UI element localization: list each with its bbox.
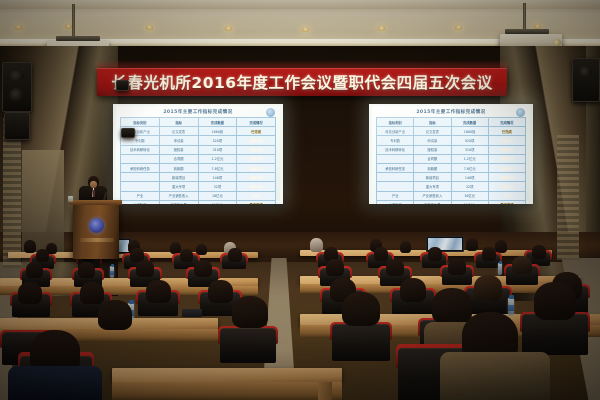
slide-table-row: 人才队伍正高级人员1170人基本完成 — [121, 200, 276, 204]
attendee — [374, 247, 388, 261]
slide-table-row: 重大专项32项超额完成 — [377, 182, 526, 191]
presenter-face — [90, 181, 97, 188]
downlight-icon — [302, 27, 309, 32]
attendee — [400, 278, 426, 302]
slide-status-cell: 超额完成 — [237, 145, 276, 154]
slide-header-cell: 完成情况 — [237, 118, 276, 127]
bottle-cap — [111, 264, 114, 267]
slide-table-row: 专利数申请量520项超额完成 — [121, 136, 276, 145]
chair — [220, 328, 276, 363]
attendee — [26, 262, 43, 278]
slide-table-row: 产业产业销售收入18亿元完成 — [121, 191, 276, 200]
slide-data-cell: 1170人 — [451, 200, 488, 204]
slide-status-cell: 超额完成 — [488, 136, 525, 145]
slide-table-header-row: 指标类别指标完成数据完成情况 — [377, 118, 526, 127]
downlight-icon — [15, 25, 22, 30]
right-projection-screen: 2015年主要工作指标完成情况 指标类别指标完成数据完成情况科技创新产出论文发表… — [369, 104, 533, 204]
banner-text: 长春光机所2016年度工作会议暨职代会四届五次会议 — [111, 71, 492, 93]
speaker-cone-icon — [578, 66, 592, 78]
slide-data-cell: 正高级人员 — [159, 200, 198, 204]
bottle-cap — [509, 295, 514, 299]
institute-logo-icon — [266, 108, 275, 117]
slide-data-cell: 310项 — [451, 145, 488, 154]
slide-status-cell: 已完成 — [488, 127, 525, 136]
slide-table-row: 专利数申请量520项超额完成 — [377, 136, 526, 145]
desk-front — [112, 382, 342, 400]
left-projection-screen: 2015年主要工作指标完成情况 指标类别指标完成数据完成情况科技创新产出论文发表… — [113, 104, 283, 204]
slide-data-cell: 新增项目 — [414, 173, 451, 182]
attendee — [80, 282, 104, 304]
bottle-cap — [129, 300, 134, 304]
slide-title: 2015年主要工作指标完成情况 — [376, 109, 526, 115]
slide-table-body-left: 指标类别指标完成数据完成情况科技创新产出论文发表1680篇已完成专利数申请量52… — [121, 118, 276, 205]
slide-table-row: 技术转移转化授权量310项超额完成 — [377, 145, 526, 154]
slide-data-cell — [121, 154, 160, 163]
slide-data-cell — [377, 182, 414, 191]
attendee — [466, 238, 478, 251]
slide-data-cell: 承担科研任务 — [377, 163, 414, 172]
attendee — [448, 258, 466, 275]
slide-header-cell: 指标类别 — [121, 118, 160, 127]
desk — [112, 368, 342, 382]
slide-data-cell: 产业销售收入 — [414, 191, 451, 200]
attendee — [400, 241, 411, 253]
slide-table-row: 新增项目146项超额完成 — [121, 173, 276, 182]
slide-data-cell: 技术转移转化 — [377, 145, 414, 154]
podium-top — [70, 200, 122, 205]
slide-status-cell: 超额完成 — [237, 154, 276, 163]
slide-status-cell: 完成 — [237, 191, 276, 200]
attendee — [474, 275, 502, 301]
slide-status-cell: 超额完成 — [237, 163, 276, 172]
downlight-icon — [455, 25, 462, 30]
slide-table-body-right: 指标类别指标完成数据完成情况科技创新产出论文发表1680篇已完成专利数申请量52… — [377, 118, 526, 205]
slide-table: 指标类别指标完成数据完成情况科技创新产出论文发表1680篇已完成专利数申请量52… — [376, 117, 526, 204]
slide-header-cell: 指标类别 — [377, 118, 414, 127]
slide-data-cell: 授权量 — [159, 145, 198, 154]
slide-data-cell: 重大专项 — [159, 182, 198, 191]
slide-data-cell: 1.2亿元 — [451, 154, 488, 163]
slide-data-cell: 产业 — [377, 191, 414, 200]
slide-data-cell: 论文发表 — [159, 127, 198, 136]
slide-status-cell: 基本完成 — [488, 200, 525, 204]
event-banner: 长春光机所2016年度工作会议暨职代会四届五次会议 — [97, 68, 507, 96]
slide-table-row: 科技创新产出论文发表1680篇已完成 — [377, 127, 526, 136]
slide-title: 2015年主要工作指标完成情况 — [120, 109, 276, 115]
downlight-icon — [225, 26, 232, 31]
slide-data-cell: 承担科研任务 — [121, 163, 160, 172]
slide-data-cell: 授权量 — [414, 145, 451, 154]
attendee — [432, 288, 472, 324]
attendee — [428, 247, 442, 261]
slide-data-cell: 到款额 — [414, 163, 451, 172]
slide-header-cell: 指标 — [159, 118, 198, 127]
attendee — [208, 280, 233, 303]
attendee — [146, 280, 171, 303]
slide-status-cell: 超额完成 — [488, 163, 525, 172]
slide-status-cell: 超额完成 — [237, 173, 276, 182]
projector-lens-icon — [553, 39, 561, 46]
slide-data-cell: 申请量 — [414, 136, 451, 145]
downlight-icon — [65, 24, 72, 29]
downlight-icon — [378, 26, 385, 31]
attendee — [532, 245, 546, 259]
attendee — [194, 260, 212, 277]
slide-header-cell: 完成情况 — [488, 118, 525, 127]
attendee — [228, 248, 242, 262]
attendee — [310, 238, 323, 252]
bottle-label — [508, 305, 514, 311]
slide-data-cell: 1680篇 — [451, 127, 488, 136]
slide-table-row: 承担科研任务到款额7.8亿元超额完成 — [377, 163, 526, 172]
slide-data-cell: 人才队伍 — [121, 200, 160, 204]
desk-leg — [318, 382, 332, 400]
right-slide-content: 2015年主要工作指标完成情况 指标类别指标完成数据完成情况科技创新产出论文发表… — [372, 106, 530, 201]
slide-data-cell: 合同额 — [159, 154, 198, 163]
slide-data-cell: 32项 — [198, 182, 237, 191]
slide-table-row: 技术转移转化授权量310项超额完成 — [121, 145, 276, 154]
slide-table-header-row: 指标类别指标完成数据完成情况 — [121, 118, 276, 127]
conference-hall-photo: 长春光机所2016年度工作会议暨职代会四届五次会议 2015年主要工作指标完成情… — [0, 0, 600, 400]
slide-data-cell: 32项 — [451, 182, 488, 191]
attendee — [386, 259, 404, 276]
slide-data-cell: 520项 — [451, 136, 488, 145]
slide-data-cell: 论文发表 — [414, 127, 451, 136]
bottle-cap — [499, 261, 502, 264]
right-wall-slats — [557, 135, 579, 260]
wall-speaker — [572, 58, 600, 102]
slide-table: 指标类别指标完成数据完成情况科技创新产出论文发表1680篇已完成专利数申请量52… — [120, 117, 276, 204]
attendee — [534, 282, 576, 320]
podium-nameplate — [80, 238, 114, 242]
slide-data-cell: 18亿元 — [451, 191, 488, 200]
water-bottle — [498, 263, 502, 275]
slide-data-cell: 重大专项 — [414, 182, 451, 191]
attendee — [326, 259, 344, 276]
slide-table-row: 科技创新产出论文发表1680篇已完成 — [121, 127, 276, 136]
slide-data-cell: 科技创新产出 — [377, 127, 414, 136]
slide-data-cell: 产业 — [121, 191, 160, 200]
left-wall-slats — [3, 118, 21, 268]
attendee — [512, 256, 532, 274]
chair — [522, 314, 588, 355]
presenter-tie — [93, 190, 95, 197]
attendee — [36, 249, 49, 262]
attendee-shoulders — [440, 352, 550, 400]
slide-data-cell: 新增项目 — [159, 173, 198, 182]
bottle-label — [110, 271, 114, 275]
attendee — [78, 262, 95, 278]
downlight-icon — [146, 25, 153, 30]
slide-header-cell: 指标 — [414, 118, 451, 127]
slide-data-cell — [121, 182, 160, 191]
slide-data-cell: 合同额 — [414, 154, 451, 163]
slide-data-cell: 7.8亿元 — [198, 163, 237, 172]
slide-table-row: 合同额1.2亿元超额完成 — [377, 154, 526, 163]
slide-data-cell: 1.2亿元 — [198, 154, 237, 163]
slide-data-cell: 310项 — [198, 145, 237, 154]
slide-status-cell: 超额完成 — [488, 145, 525, 154]
podium-emblem-icon — [89, 218, 104, 233]
slide-data-cell: 1680篇 — [198, 127, 237, 136]
speaker-cone-icon — [8, 70, 24, 82]
slide-header-cell: 完成数据 — [198, 118, 237, 127]
slide-data-cell — [121, 173, 160, 182]
wall-light-box — [116, 80, 129, 91]
slide-status-cell: 完成 — [488, 191, 525, 200]
slide-data-cell: 人才队伍 — [377, 200, 414, 204]
slide-data-cell: 产业销售收入 — [159, 191, 198, 200]
attendee-shoulders — [8, 366, 102, 400]
attendee — [482, 247, 496, 261]
attendee — [136, 260, 154, 277]
slide-table-row: 承担科研任务到款额7.8亿元超额完成 — [121, 163, 276, 172]
slide-status-cell: 超额完成 — [237, 182, 276, 191]
institute-logo-icon — [516, 108, 525, 117]
notebook — [182, 309, 202, 317]
slide-data-cell: 146项 — [198, 173, 237, 182]
slide-table-row: 新增项目146项超额完成 — [377, 173, 526, 182]
attendee — [98, 300, 132, 330]
slide-data-cell: 申请量 — [159, 136, 198, 145]
attendee — [18, 282, 42, 304]
attendee — [342, 292, 380, 326]
slide-status-cell: 超额完成 — [488, 173, 525, 182]
slide-data-cell: 到款额 — [159, 163, 198, 172]
slide-table-row: 产业产业销售收入18亿元完成 — [377, 191, 526, 200]
slide-data-cell: 专利数 — [377, 136, 414, 145]
slide-status-cell: 超额完成 — [488, 154, 525, 163]
attendee — [232, 296, 268, 328]
slide-data-cell — [377, 154, 414, 163]
slide-data-cell: 146项 — [451, 173, 488, 182]
slide-data-cell: 1170人 — [198, 200, 237, 204]
left-slide-content: 2015年主要工作指标完成情况 指标类别指标完成数据完成情况科技创新产出论文发表… — [116, 106, 280, 201]
water-glass — [68, 196, 73, 202]
wall-sconce — [121, 128, 135, 138]
slide-data-cell: 正高级人员 — [414, 200, 451, 204]
slide-data-cell: 18亿元 — [198, 191, 237, 200]
chair — [332, 324, 390, 361]
slide-data-cell — [377, 173, 414, 182]
wall-speaker — [4, 112, 30, 140]
projector-mount-rod — [72, 4, 75, 38]
slide-data-cell: 520项 — [198, 136, 237, 145]
slide-data-cell: 7.8亿元 — [451, 163, 488, 172]
slide-status-cell: 已完成 — [237, 127, 276, 136]
slide-data-cell: 技术转移转化 — [121, 145, 160, 154]
slide-status-cell: 超额完成 — [237, 136, 276, 145]
attendee — [180, 249, 193, 262]
slide-table-row: 合同额1.2亿元超额完成 — [121, 154, 276, 163]
slide-status-cell: 基本完成 — [237, 200, 276, 204]
attendee — [24, 240, 36, 253]
speaker-cone-icon — [9, 88, 23, 102]
slide-status-cell: 超额完成 — [488, 182, 525, 191]
slide-header-cell: 完成数据 — [451, 118, 488, 127]
ceiling-band — [0, 0, 600, 9]
projector-mount-rod — [523, 3, 526, 31]
slide-table-row: 重大专项32项超额完成 — [121, 182, 276, 191]
slide-table-row: 人才队伍正高级人员1170人基本完成 — [377, 200, 526, 204]
